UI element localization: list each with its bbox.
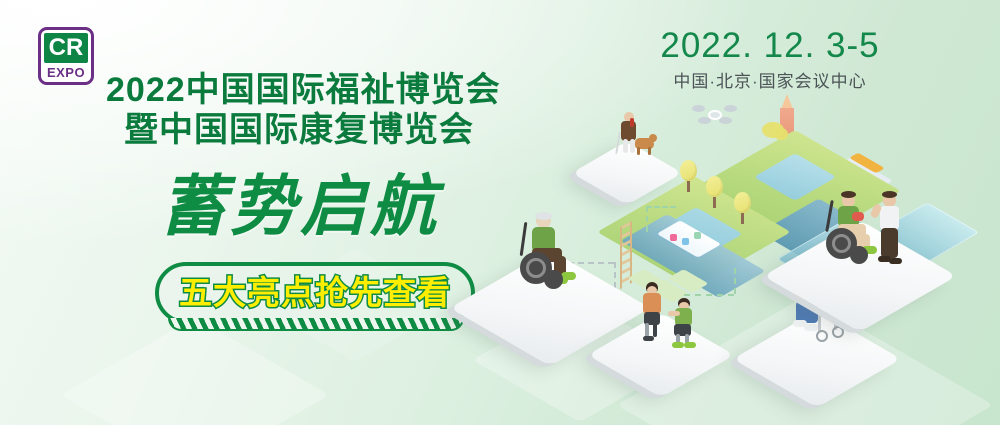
wheelchair-therapy-patient xyxy=(822,194,880,264)
wheelchair-elderly xyxy=(514,214,584,292)
tree-icon xyxy=(680,160,697,192)
therapist xyxy=(874,194,904,266)
cr-expo-logo[interactable]: CR EXPO xyxy=(38,27,94,85)
prosthetic-walker xyxy=(638,282,668,342)
cta-striped-shadow xyxy=(168,318,464,331)
connector-path xyxy=(614,262,616,288)
event-banner: CR EXPO 2022中国国际福祉博览会 暨中国国际康复博览会 蓄势启航 五大… xyxy=(0,0,1000,425)
connector-path xyxy=(646,206,648,232)
ground-shadow xyxy=(61,317,330,425)
highlights-cta-label: 五大亮点抢先查看 xyxy=(179,275,451,311)
connector-path xyxy=(646,206,676,208)
event-slogan: 蓄势启航 xyxy=(160,168,440,244)
kiosk-item xyxy=(694,232,701,239)
logo-expo-text: EXPO xyxy=(47,65,85,81)
connector-path xyxy=(684,294,734,296)
logo-cr-mark: CR xyxy=(44,33,88,63)
isometric-illustration xyxy=(470,86,1000,416)
tree-icon xyxy=(734,192,751,224)
event-date: 2022. 12. 3-5 xyxy=(645,26,895,66)
kiosk-item xyxy=(670,234,677,241)
kiosk-item xyxy=(682,238,689,245)
tree-icon xyxy=(706,176,723,208)
drone-icon xyxy=(692,102,738,128)
highlights-cta-button[interactable]: 五大亮点抢先查看 xyxy=(155,262,475,324)
prosthetic-runner xyxy=(668,298,702,350)
connector-path xyxy=(734,268,736,294)
bush-icon xyxy=(774,128,788,140)
